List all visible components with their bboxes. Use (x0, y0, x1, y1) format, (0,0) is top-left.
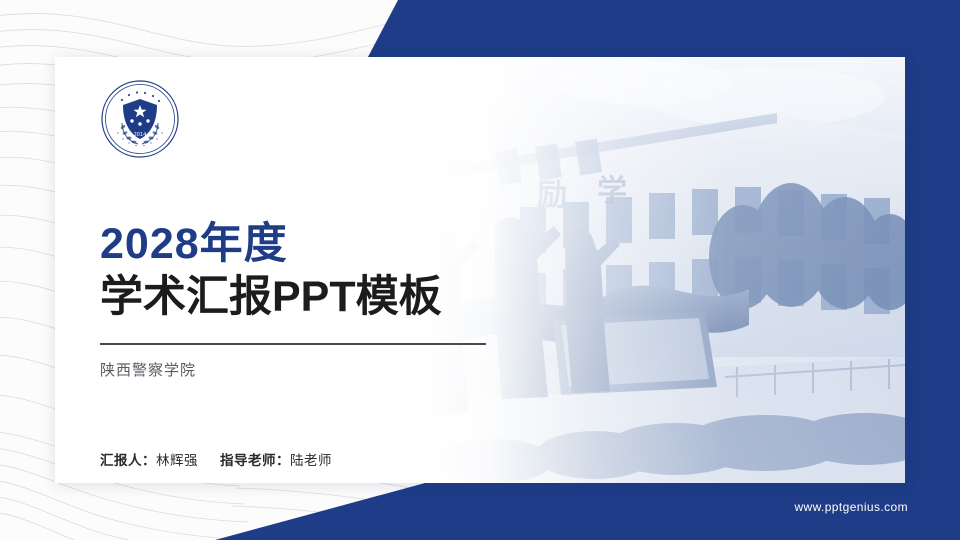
footer-website-url[interactable]: www.pptgenius.com (794, 500, 908, 514)
title-divider (100, 343, 486, 345)
presenter-name: 林辉强 (156, 453, 198, 468)
title-year: 2028年度 (100, 222, 530, 267)
right-blue-band (900, 0, 960, 540)
content-card: 励 学 (55, 57, 905, 483)
presentation-slide: 励 学 (0, 0, 960, 540)
shaanxi-police-college-emblem: 2014 (100, 79, 180, 159)
page-title: 学术汇报PPT模板 (100, 273, 530, 321)
advisor-name: 陆老师 (290, 453, 332, 468)
advisor-label: 指导老师： (220, 453, 290, 468)
emblem-year-text: 2014 (134, 132, 147, 138)
presenter-info: 汇报人：林辉强指导老师：陆老师 (100, 449, 332, 469)
title-block: 2028年度 学术汇报PPT模板 陕西警察学院 (100, 222, 530, 380)
subtitle-institution: 陕西警察学院 (100, 359, 530, 380)
presenter-label: 汇报人： (100, 453, 156, 468)
